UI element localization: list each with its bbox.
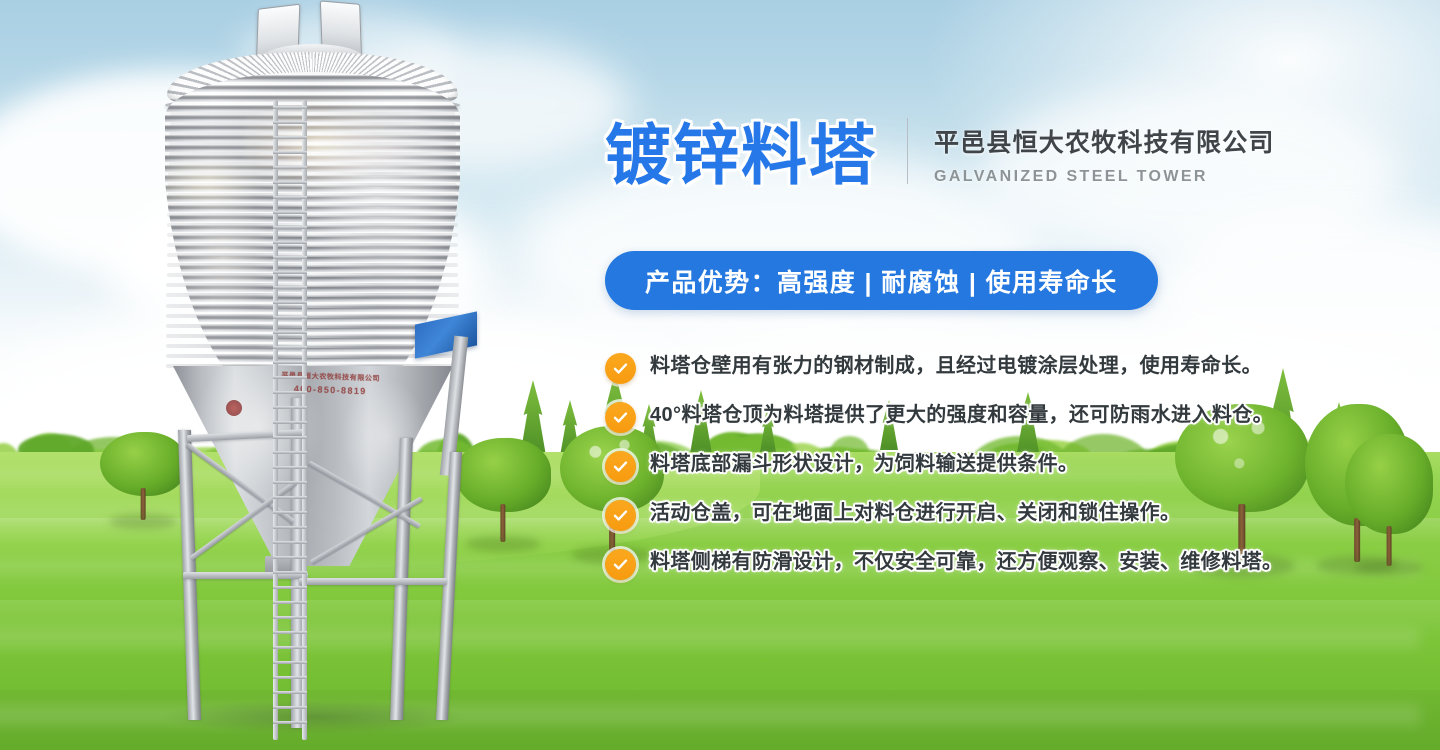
ladder-rung	[273, 451, 307, 454]
silo-hoop	[167, 273, 459, 277]
title-divider	[907, 118, 908, 184]
ladder-rung	[273, 271, 307, 274]
company-name-english: GALVANIZED STEEL TOWER	[934, 168, 1275, 186]
ladder-rung	[273, 256, 307, 259]
silo-hoop	[167, 263, 459, 267]
ladder-rung	[273, 706, 307, 709]
feature-item: 料塔侧梯有防滑设计，不仅安全可靠，还方便观察、安装、维修料塔。	[605, 548, 1440, 580]
ladder-rung	[273, 601, 307, 604]
silo-ground-shadow	[165, 700, 465, 734]
ladder-rung	[273, 286, 307, 289]
feature-list: 料塔仓壁用有张力的钢材制成，且经过电镀涂层处理，使用寿命长。40°料塔仓顶为料塔…	[605, 352, 1440, 597]
ladder-rung	[273, 301, 307, 304]
ladder-rung	[273, 241, 307, 244]
check-circle-icon	[605, 353, 636, 384]
feature-text: 料塔仓壁用有张力的钢材制成，且经过电镀涂层处理，使用寿命长。	[650, 352, 1262, 381]
ladder-rung	[273, 196, 307, 199]
product-advantage-text: 产品优势：高强度 | 耐腐蚀 | 使用寿命长	[645, 263, 1118, 299]
product-advantage-pill: 产品优势：高强度 | 耐腐蚀 | 使用寿命长	[605, 251, 1158, 310]
ladder-rung	[273, 391, 307, 394]
ladder-rung	[273, 676, 307, 679]
cone-valve	[226, 400, 242, 416]
galvanized-feed-silo-image: 平邑县恒大农牧科技有限公司 400-850-8819	[95, 0, 515, 750]
silo-hoop	[167, 243, 458, 247]
ladder-rung	[273, 181, 307, 184]
feature-item: 40°料塔仓顶为料塔提供了更大的强度和容量，还可防雨水进入料仓。	[605, 401, 1440, 433]
ladder-rung	[273, 136, 307, 139]
silo-hoop	[166, 314, 459, 318]
silo-hoop	[167, 233, 458, 237]
check-circle-icon	[605, 402, 636, 433]
ladder-rung	[273, 511, 307, 514]
feature-text: 40°料塔仓顶为料塔提供了更大的强度和容量，还可防雨水进入料仓。	[650, 401, 1273, 430]
ladder-rung	[273, 646, 307, 649]
ladder-rung	[273, 361, 307, 364]
ladder-rung	[273, 616, 307, 619]
ladder-rung	[273, 661, 307, 664]
ladder-rung	[273, 436, 307, 439]
silo-hoop	[167, 253, 458, 257]
ladder-rung	[273, 556, 307, 559]
ladder-rung	[273, 586, 307, 589]
silo-hoop	[170, 122, 456, 126]
ladder-rung	[273, 721, 307, 724]
feature-text: 料塔底部漏斗形状设计，为饲料输送提供条件。	[650, 450, 1078, 479]
promotional-banner: 平邑县恒大农牧科技有限公司 400-850-8819 镀锌料塔	[0, 0, 1440, 750]
ladder-rung	[273, 316, 307, 319]
check-circle-icon	[605, 451, 636, 482]
ladder-rung	[273, 166, 307, 169]
ladder-rung	[273, 331, 307, 334]
silo-hoop	[166, 283, 458, 287]
feature-text: 活动仓盖，可在地面上对料仓进行开启、关闭和锁住操作。	[650, 499, 1180, 528]
silo-hoop	[169, 142, 456, 146]
ladder-rung	[273, 571, 307, 574]
ladder-rung	[273, 526, 307, 529]
feature-text: 料塔侧梯有防滑设计，不仅安全可靠，还方便观察、安装、维修料塔。	[650, 548, 1282, 577]
ladder-rung	[273, 376, 307, 379]
company-block: 平邑县恒大农牧科技有限公司 GALVANIZED STEEL TOWER	[934, 128, 1275, 188]
support-leg	[436, 452, 462, 720]
ladder-rung	[273, 346, 307, 349]
silo-hoop	[170, 112, 455, 116]
check-circle-icon	[605, 549, 636, 580]
feature-item: 料塔底部漏斗形状设计，为饲料输送提供条件。	[605, 450, 1440, 482]
feature-item: 活动仓盖，可在地面上对料仓进行开启、关闭和锁住操作。	[605, 499, 1440, 531]
ladder-rung	[273, 106, 307, 109]
ladder-rung	[273, 406, 307, 409]
side-ladder	[273, 100, 307, 740]
ladder-rung	[273, 121, 307, 124]
ladder-rung	[273, 496, 307, 499]
page-title: 镀锌料塔	[605, 122, 877, 188]
horizontal-bar	[299, 578, 447, 585]
silo-hoop	[167, 223, 457, 227]
ladder-rung	[273, 481, 307, 484]
silo-hoop	[166, 304, 459, 308]
ladder-rung	[273, 211, 307, 214]
ladder-rung	[273, 631, 307, 634]
ladder-rung	[273, 226, 307, 229]
ladder-rung	[273, 151, 307, 154]
ladder-rung	[273, 541, 307, 544]
company-name: 平邑县恒大农牧科技有限公司	[934, 128, 1275, 159]
sun-flare	[147, 148, 267, 218]
ladder-rung	[273, 466, 307, 469]
ladder-rung	[273, 421, 307, 424]
title-row: 镀锌料塔 平邑县恒大农牧科技有限公司 GALVANIZED STEEL TOWE…	[605, 118, 1275, 188]
silo-hoop	[169, 132, 455, 136]
ladder-rung	[273, 691, 307, 694]
banner-content: 镀锌料塔 平邑县恒大农牧科技有限公司 GALVANIZED STEEL TOWE…	[595, 0, 1440, 750]
feature-item: 料塔仓壁用有张力的钢材制成，且经过电镀涂层处理，使用寿命长。	[605, 352, 1440, 384]
silo-hoop	[166, 293, 458, 297]
check-circle-icon	[605, 500, 636, 531]
